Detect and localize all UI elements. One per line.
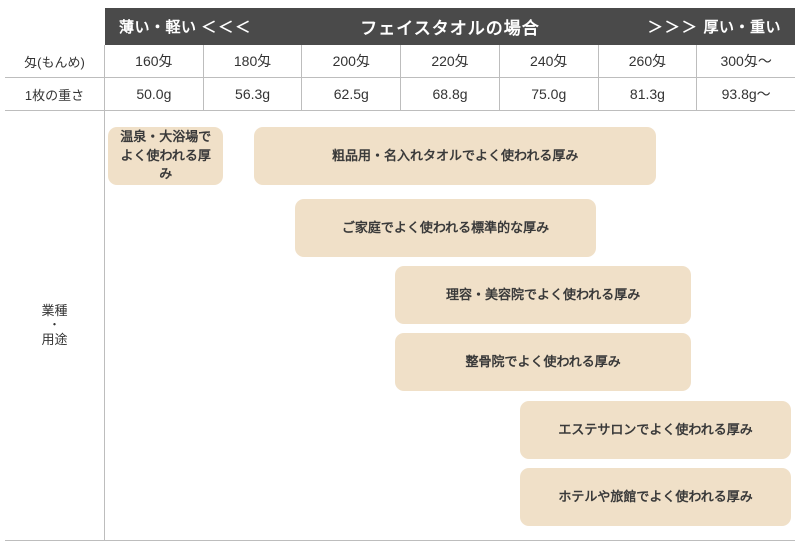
cell-monme-4: 240匁 <box>500 45 599 77</box>
usage-label-line2: 用途 <box>41 331 67 349</box>
table-row-weight: 1枚の重さ 50.0g 56.3g 62.5g 68.8g 75.0g 81.3… <box>5 78 795 111</box>
usage-label-line1: 業種 <box>41 302 67 320</box>
cell-monme-5: 260匁 <box>599 45 698 77</box>
header-thin-light-label: 薄い・軽い ＜＜＜ <box>105 16 252 37</box>
cell-monme-1: 180匁 <box>204 45 303 77</box>
header-thick-heavy-label: ＞＞＞ 厚い・重い <box>648 16 795 37</box>
towel-weight-comparison-table: 薄い・軽い ＜＜＜ フェイスタオルの場合 ＞＞＞ 厚い・重い 匁(もんめ) 16… <box>0 0 800 550</box>
page-title: フェイスタオルの場合 <box>252 14 648 39</box>
usage-label-separator: ・ <box>49 320 60 331</box>
cell-weight-3: 68.8g <box>401 78 500 110</box>
usage-bar: ご家庭でよく使われる標準的な厚み <box>295 199 595 257</box>
table-corner-blank <box>5 8 105 45</box>
table-row-monme: 匁(もんめ) 160匁 180匁 200匁 220匁 240匁 260匁 300… <box>5 45 795 78</box>
table-header-band: 薄い・軽い ＜＜＜ フェイスタオルの場合 ＞＞＞ 厚い・重い <box>105 8 795 45</box>
table-footer-strip <box>5 541 795 545</box>
usage-bar: 理容・美容院でよく使われる厚み <box>395 266 692 324</box>
usage-section-label: 業種 ・ 用途 <box>5 111 105 540</box>
usage-section: 業種 ・ 用途 温泉・大浴場でよく使われる厚み粗品用・名入れタオルでよく使われる… <box>5 111 795 541</box>
left-arrows-icon: ＜＜＜ <box>201 19 252 36</box>
row-label-monme: 匁(もんめ) <box>5 45 105 77</box>
cell-weight-4: 75.0g <box>500 78 599 110</box>
cell-weight-2: 62.5g <box>302 78 401 110</box>
usage-bar: 整骨院でよく使われる厚み <box>395 333 692 391</box>
usage-bar: 温泉・大浴場でよく使われる厚み <box>108 127 223 185</box>
header-thin-light-text: 薄い・軽い <box>119 19 197 36</box>
row-label-weight: 1枚の重さ <box>5 78 105 110</box>
cell-weight-0: 50.0g <box>105 78 204 110</box>
cell-monme-3: 220匁 <box>401 45 500 77</box>
usage-bar: エステサロンでよく使われる厚み <box>520 401 790 459</box>
usage-bar: 粗品用・名入れタオルでよく使われる厚み <box>254 127 656 185</box>
cell-weight-1: 56.3g <box>204 78 303 110</box>
cell-weight-6: 93.8g〜 <box>697 78 795 110</box>
usage-bar: ホテルや旅館でよく使われる厚み <box>520 468 790 526</box>
cell-monme-0: 160匁 <box>105 45 204 77</box>
usage-bars-canvas: 温泉・大浴場でよく使われる厚み粗品用・名入れタオルでよく使われる厚みご家庭でよく… <box>105 111 795 540</box>
cell-monme-2: 200匁 <box>302 45 401 77</box>
header-thick-heavy-text: 厚い・重い <box>703 19 781 36</box>
right-arrows-icon: ＞＞＞ <box>648 19 699 36</box>
cell-weight-5: 81.3g <box>599 78 698 110</box>
cell-monme-6: 300匁〜 <box>697 45 795 77</box>
